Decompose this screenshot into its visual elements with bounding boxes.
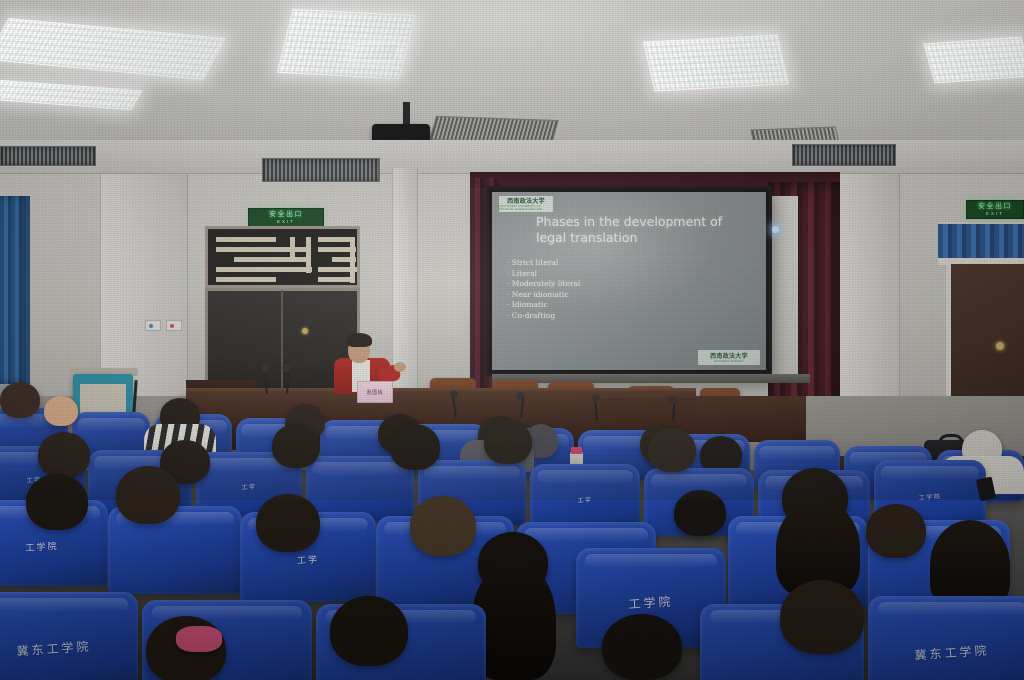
audience-head [410,496,476,556]
chair-logo-text: 冀东工学院 [16,637,92,659]
auditorium-seat[interactable]: 冀东工学院 [868,596,1024,680]
chair-logo-text: 工学 [297,553,320,568]
chair-logo-text: 工学院 [628,592,674,612]
ceiling-light-panel [923,37,1024,84]
ceiling-light-panel [350,44,399,60]
lecture-hall-photo: 安全出口 EXIT 安全出口 EXIT [0,0,1024,680]
chair-logo-text: 冀东工学院 [914,641,990,663]
audience-head [602,614,682,680]
audience-head [330,596,408,666]
ceiling-light-panel [643,34,789,91]
chair-logo-text: 工学院 [25,538,59,553]
audience-head [256,494,320,552]
auditorium-seat[interactable]: 冀东工学院 [0,592,138,680]
wall-vignette [0,140,1024,500]
audience-head [866,504,926,558]
hair-clip [176,626,222,652]
audience-head [780,580,864,654]
